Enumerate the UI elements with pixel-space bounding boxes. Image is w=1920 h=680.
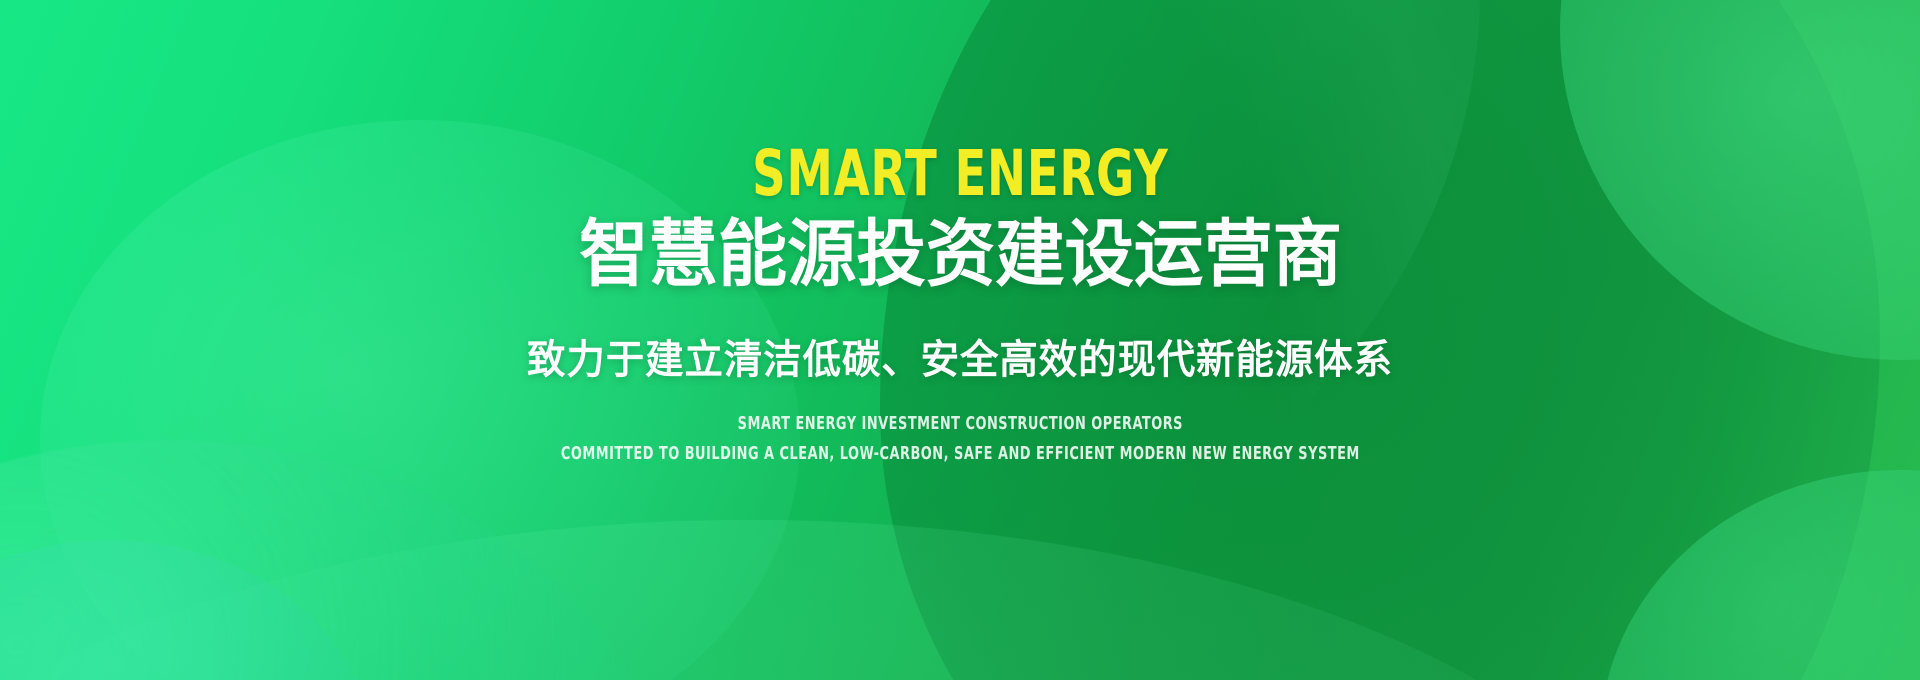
banner-title-chinese: 智慧能源投资建设运营商 (579, 217, 1342, 294)
banner-title-english: SMART ENERGY (752, 142, 1168, 205)
banner-content: SMART ENERGY 智慧能源投资建设运营商 致力于建立清洁低碳、安全高效的… (0, 0, 1920, 680)
banner-subtitle-english-line-2: COMMITTED TO BUILDING A CLEAN, LOW-CARBO… (561, 440, 1360, 468)
hero-banner: SMART ENERGY 智慧能源投资建设运营商 致力于建立清洁低碳、安全高效的… (0, 0, 1920, 680)
banner-subtitle-chinese: 致力于建立清洁低碳、安全高效的现代新能源体系 (527, 336, 1393, 384)
banner-subtitle-english-line-1: SMART ENERGY INVESTMENT CONSTRUCTION OPE… (737, 410, 1182, 438)
